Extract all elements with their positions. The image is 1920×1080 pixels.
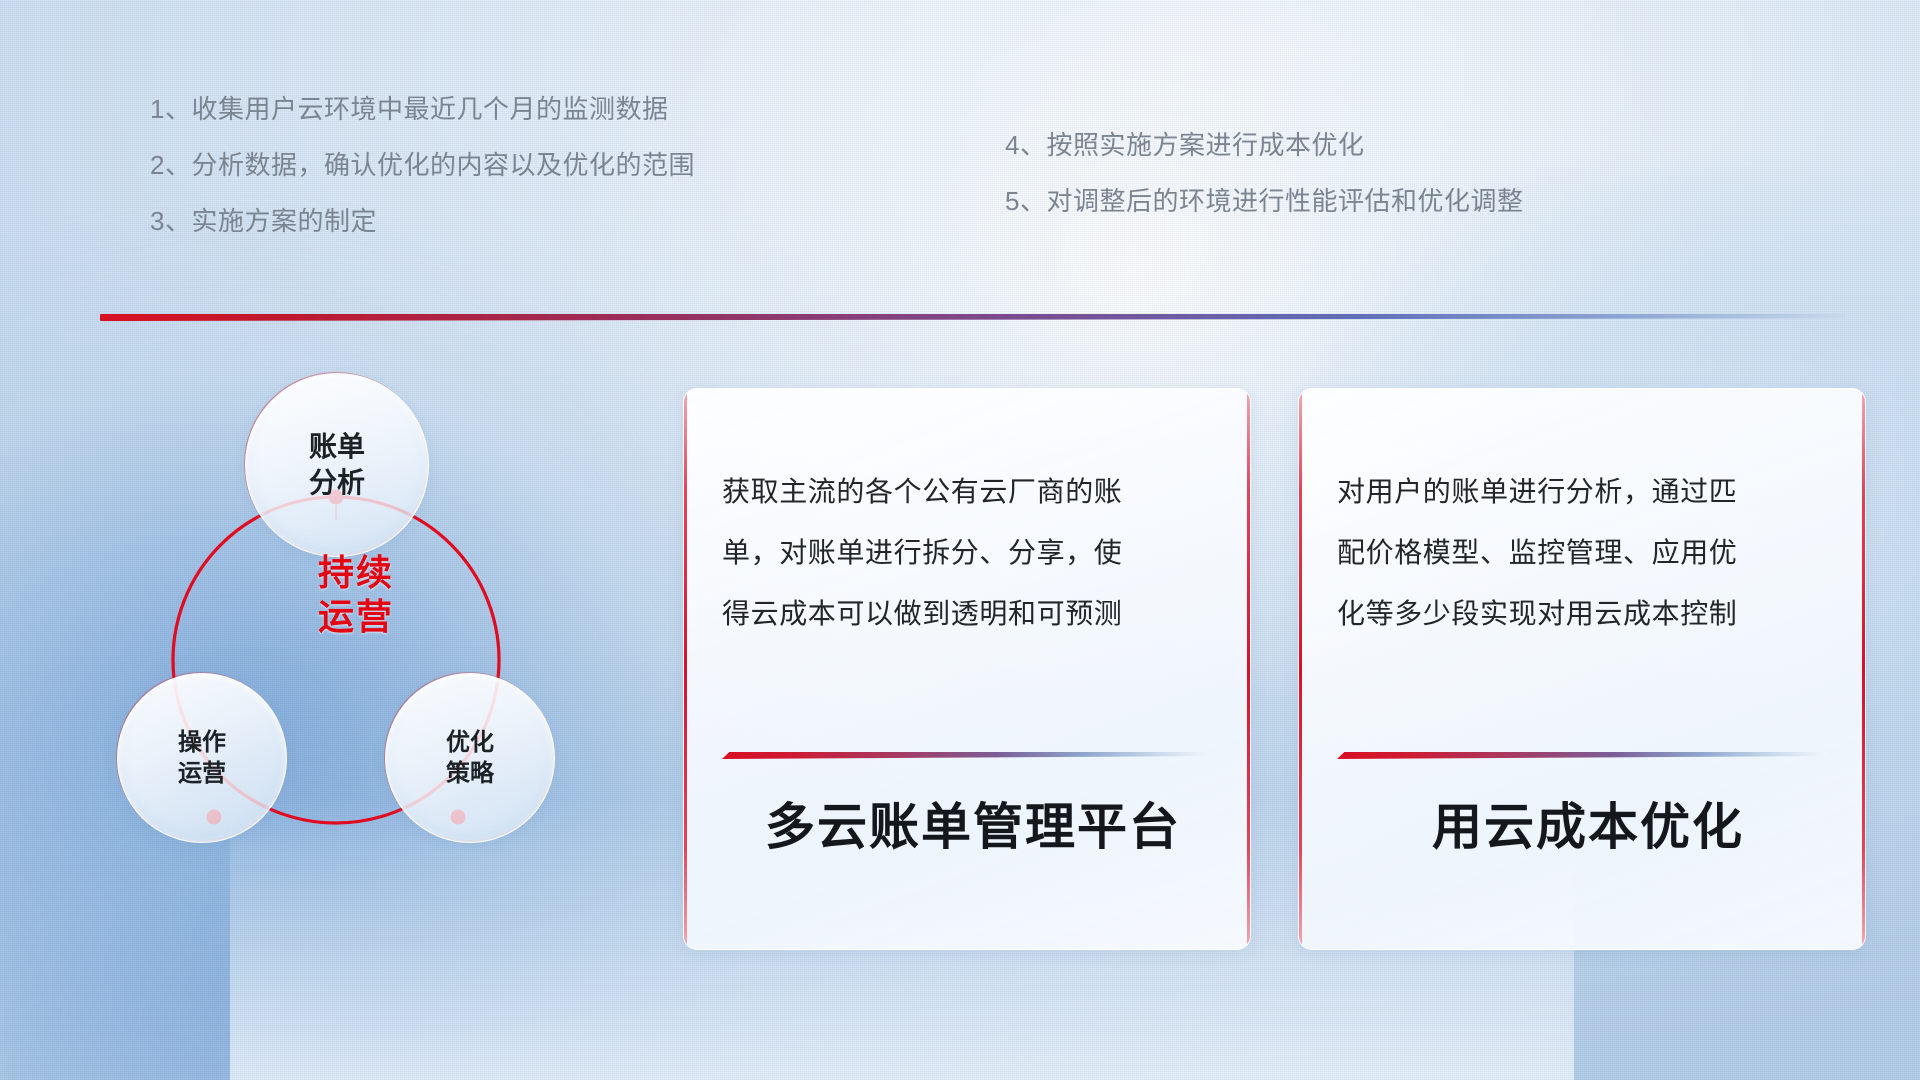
feature-card-cost-optimization-body-line3: 化等多少段实现对用云成本控制 [1337, 583, 1835, 644]
step-item-2: 2、 分析数据，确认优化的内容以及优化的范围 [150, 152, 695, 178]
step-item-1: 1、 收集用户云环境中最近几个月的监测数据 [150, 96, 695, 122]
step-5-number: 5、 [1005, 188, 1046, 214]
step-item-4: 4、 按照实施方案进行成本优化 [1005, 132, 1523, 158]
feature-card-multicloud-billing[interactable]: 获取主流的各个公有云厂商的账 单，对账单进行拆分、分享，使 得云成本可以做到透明… [683, 388, 1251, 950]
feature-card-multicloud-billing-title: 多云账单管理平台 [720, 797, 1226, 857]
feature-card-multicloud-billing-body-line2: 单，对账单进行拆分、分享，使 [722, 522, 1220, 583]
venn-center-label: 持续 运营 [266, 551, 446, 639]
venn-center-label-line2: 运营 [266, 595, 446, 639]
venn-bubble-billing-analysis[interactable]: 账单 分析 [245, 373, 429, 557]
step-1-label: 收集用户云环境中最近几个月的监测数据 [191, 96, 668, 122]
steps-right-column: 4、 按照实施方案进行成本优化 5、 对调整后的环境进行性能评估和优化调整 [1005, 132, 1523, 244]
feature-card-cost-optimization-body-line2: 配价格模型、监控管理、应用优 [1337, 522, 1835, 583]
step-3-number: 3、 [150, 208, 191, 234]
feature-card-cost-optimization-title: 用云成本优化 [1335, 797, 1841, 857]
step-1-number: 1、 [150, 96, 191, 122]
venn-bubble-operations-line2: 运营 [178, 758, 226, 789]
venn-bubble-billing-analysis-line2: 分析 [309, 465, 365, 501]
venn-bubble-operations[interactable]: 操作 运营 [117, 673, 287, 843]
steps-left-column: 1、 收集用户云环境中最近几个月的监测数据 2、 分析数据，确认优化的内容以及优… [150, 96, 695, 264]
step-2-label: 分析数据，确认优化的内容以及优化的范围 [191, 152, 695, 178]
step-3-label: 实施方案的制定 [191, 208, 377, 234]
venn-bubble-optimization-strategy[interactable]: 优化 策略 [385, 673, 555, 843]
step-item-3: 3、 实施方案的制定 [150, 208, 695, 234]
feature-card-cost-optimization-rule [1337, 752, 1827, 759]
step-item-5: 5、 对调整后的环境进行性能评估和优化调整 [1005, 188, 1523, 214]
step-4-number: 4、 [1005, 132, 1046, 158]
feature-card-multicloud-billing-body-line1: 获取主流的各个公有云厂商的账 [722, 461, 1220, 522]
feature-card-cost-optimization-body-line1: 对用户的账单进行分析，通过匹 [1337, 461, 1835, 522]
feature-card-multicloud-billing-rule [722, 752, 1212, 759]
step-5-label: 对调整后的环境进行性能评估和优化调整 [1046, 188, 1523, 214]
feature-card-cost-optimization-body: 对用户的账单进行分析，通过匹 配价格模型、监控管理、应用优 化等多少段实现对用云… [1337, 461, 1835, 644]
venn-bubble-optimization-strategy-line1: 优化 [446, 727, 494, 758]
venn-diagram: 账单 分析 操作 运营 优化 策略 持续 运营 [95, 355, 655, 935]
feature-card-multicloud-billing-body: 获取主流的各个公有云厂商的账 单，对账单进行拆分、分享，使 得云成本可以做到透明… [722, 461, 1220, 644]
feature-card-cost-optimization[interactable]: 对用户的账单进行分析，通过匹 配价格模型、监控管理、应用优 化等多少段实现对用云… [1298, 388, 1866, 950]
steps-list: 1、 收集用户云环境中最近几个月的监测数据 2、 分析数据，确认优化的内容以及优… [0, 96, 1920, 246]
venn-center-label-line1: 持续 [266, 551, 446, 595]
feature-card-multicloud-billing-body-line3: 得云成本可以做到透明和可预测 [722, 583, 1220, 644]
venn-bubble-operations-line1: 操作 [178, 727, 226, 758]
step-2-number: 2、 [150, 152, 191, 178]
venn-bubble-optimization-strategy-line2: 策略 [446, 758, 494, 789]
venn-bubble-billing-analysis-line1: 账单 [309, 429, 365, 465]
step-4-label: 按照实施方案进行成本优化 [1046, 132, 1364, 158]
